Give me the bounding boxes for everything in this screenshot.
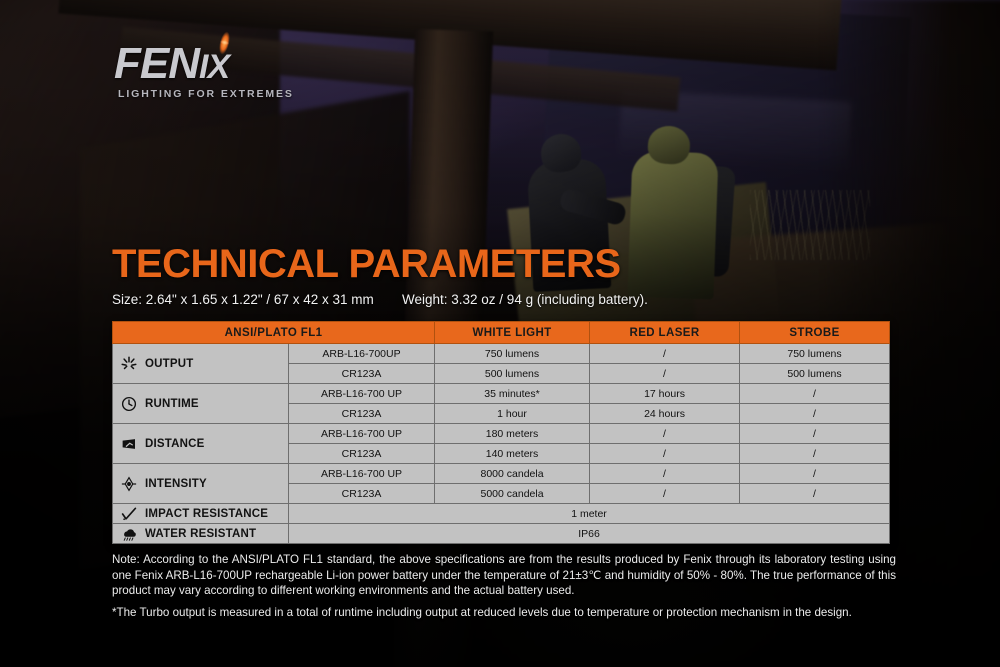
table-header-row: ANSI/PLATO FL1 WHITE LIGHT RED LASER STR… xyxy=(113,322,890,344)
column-header-white-light: WHITE LIGHT xyxy=(435,322,590,344)
cell-strobe: 500 lumens xyxy=(740,364,890,384)
table-row: OUTPUT ARB-L16-700UP 750 lumens / 750 lu… xyxy=(113,344,890,364)
row-category-distance: DISTANCE xyxy=(113,424,289,464)
burst-icon xyxy=(120,355,138,373)
note-main: Note: According to the ANSI/PLATO FL1 st… xyxy=(112,552,896,599)
cell-strobe: / xyxy=(740,424,890,444)
row-label-intensity: INTENSITY xyxy=(145,478,207,490)
weight-value: Weight: 3.32 oz / 94 g (including batter… xyxy=(402,292,648,307)
fenix-logo: FENIX LIGHTING FOR EXTREMES xyxy=(114,42,314,100)
rain-cloud-icon xyxy=(120,525,138,543)
table-row: RUNTIME ARB-L16-700 UP 35 minutes* 17 ho… xyxy=(113,384,890,404)
product-spec-sheet: FENIX LIGHTING FOR EXTREMES TECHNICAL PA… xyxy=(0,0,1000,667)
cell-red-laser: / xyxy=(590,484,740,504)
table-row: WATER RESISTANT IP66 xyxy=(113,524,890,544)
cell-battery: CR123A xyxy=(289,404,435,424)
fenix-wordmark-fen: FEN xyxy=(114,39,199,88)
cell-battery: ARB-L16-700 UP xyxy=(289,384,435,404)
crosshair-icon xyxy=(120,475,138,493)
table-row: INTENSITY ARB-L16-700 UP 8000 candela / … xyxy=(113,464,890,484)
column-header-strobe: STROBE xyxy=(740,322,890,344)
cell-white-light: 180 meters xyxy=(435,424,590,444)
row-category-water-resistant: WATER RESISTANT xyxy=(113,524,289,544)
row-category-output: OUTPUT xyxy=(113,344,289,384)
table-header: ANSI/PLATO FL1 WHITE LIGHT RED LASER STR… xyxy=(113,322,890,344)
cell-strobe: 750 lumens xyxy=(740,344,890,364)
cell-red-laser: / xyxy=(590,464,740,484)
cell-strobe: / xyxy=(740,464,890,484)
cell-battery: CR123A xyxy=(289,484,435,504)
cell-battery: ARB-L16-700 UP xyxy=(289,464,435,484)
cell-white-light: 750 lumens xyxy=(435,344,590,364)
footnotes: Note: According to the ANSI/PLATO FL1 st… xyxy=(112,552,896,620)
cell-red-laser: / xyxy=(590,424,740,444)
cell-white-light: 8000 candela xyxy=(435,464,590,484)
cell-white-light: 35 minutes* xyxy=(435,384,590,404)
cell-strobe: / xyxy=(740,404,890,424)
cell-battery: ARB-L16-700 UP xyxy=(289,424,435,444)
cell-strobe: / xyxy=(740,444,890,464)
size-value: Size: 2.64" x 1.65 x 1.22" / 67 x 42 x 3… xyxy=(112,292,402,307)
cell-strobe: / xyxy=(740,484,890,504)
cell-white-light: 5000 candela xyxy=(435,484,590,504)
row-label-output: OUTPUT xyxy=(145,358,193,370)
row-label-runtime: RUNTIME xyxy=(145,398,199,410)
technical-parameters-table: ANSI/PLATO FL1 WHITE LIGHT RED LASER STR… xyxy=(112,321,890,544)
cell-white-light: 500 lumens xyxy=(435,364,590,384)
fenix-tagline: LIGHTING FOR EXTREMES xyxy=(118,88,314,100)
cell-battery: ARB-L16-700UP xyxy=(289,344,435,364)
cell-impact-resistance-value: 1 meter xyxy=(289,504,890,524)
row-category-intensity: INTENSITY xyxy=(113,464,289,504)
cell-red-laser: / xyxy=(590,344,740,364)
cell-battery: CR123A xyxy=(289,364,435,384)
cell-white-light: 140 meters xyxy=(435,444,590,464)
cell-red-laser: / xyxy=(590,444,740,464)
cell-red-laser: 24 hours xyxy=(590,404,740,424)
clock-icon xyxy=(120,395,138,413)
beam-icon xyxy=(120,435,138,453)
column-header-standard: ANSI/PLATO FL1 xyxy=(113,322,435,344)
cell-red-laser: 17 hours xyxy=(590,384,740,404)
row-label-impact-resistance: IMPACT RESISTANCE xyxy=(145,508,268,520)
size-weight-line: Size: 2.64" x 1.65 x 1.22" / 67 x 42 x 3… xyxy=(112,292,892,307)
cell-red-laser: / xyxy=(590,364,740,384)
table-row: DISTANCE ARB-L16-700 UP 180 meters / / xyxy=(113,424,890,444)
row-label-distance: DISTANCE xyxy=(145,438,205,450)
table-body: OUTPUT ARB-L16-700UP 750 lumens / 750 lu… xyxy=(113,344,890,544)
note-asterisk: *The Turbo output is measured in a total… xyxy=(112,605,896,621)
fenix-wordmark: FENIX xyxy=(114,42,314,86)
cell-water-resistant-value: IP66 xyxy=(289,524,890,544)
cell-white-light: 1 hour xyxy=(435,404,590,424)
row-category-impact-resistance: IMPACT RESISTANCE xyxy=(113,504,289,524)
row-category-runtime: RUNTIME xyxy=(113,384,289,424)
cell-strobe: / xyxy=(740,384,890,404)
row-label-water-resistant: WATER RESISTANT xyxy=(145,528,256,540)
column-header-red-laser: RED LASER xyxy=(590,322,740,344)
cell-battery: CR123A xyxy=(289,444,435,464)
table-row: IMPACT RESISTANCE 1 meter xyxy=(113,504,890,524)
page-title: TECHNICAL PARAMETERS xyxy=(112,244,621,284)
hammer-check-icon xyxy=(120,505,138,523)
